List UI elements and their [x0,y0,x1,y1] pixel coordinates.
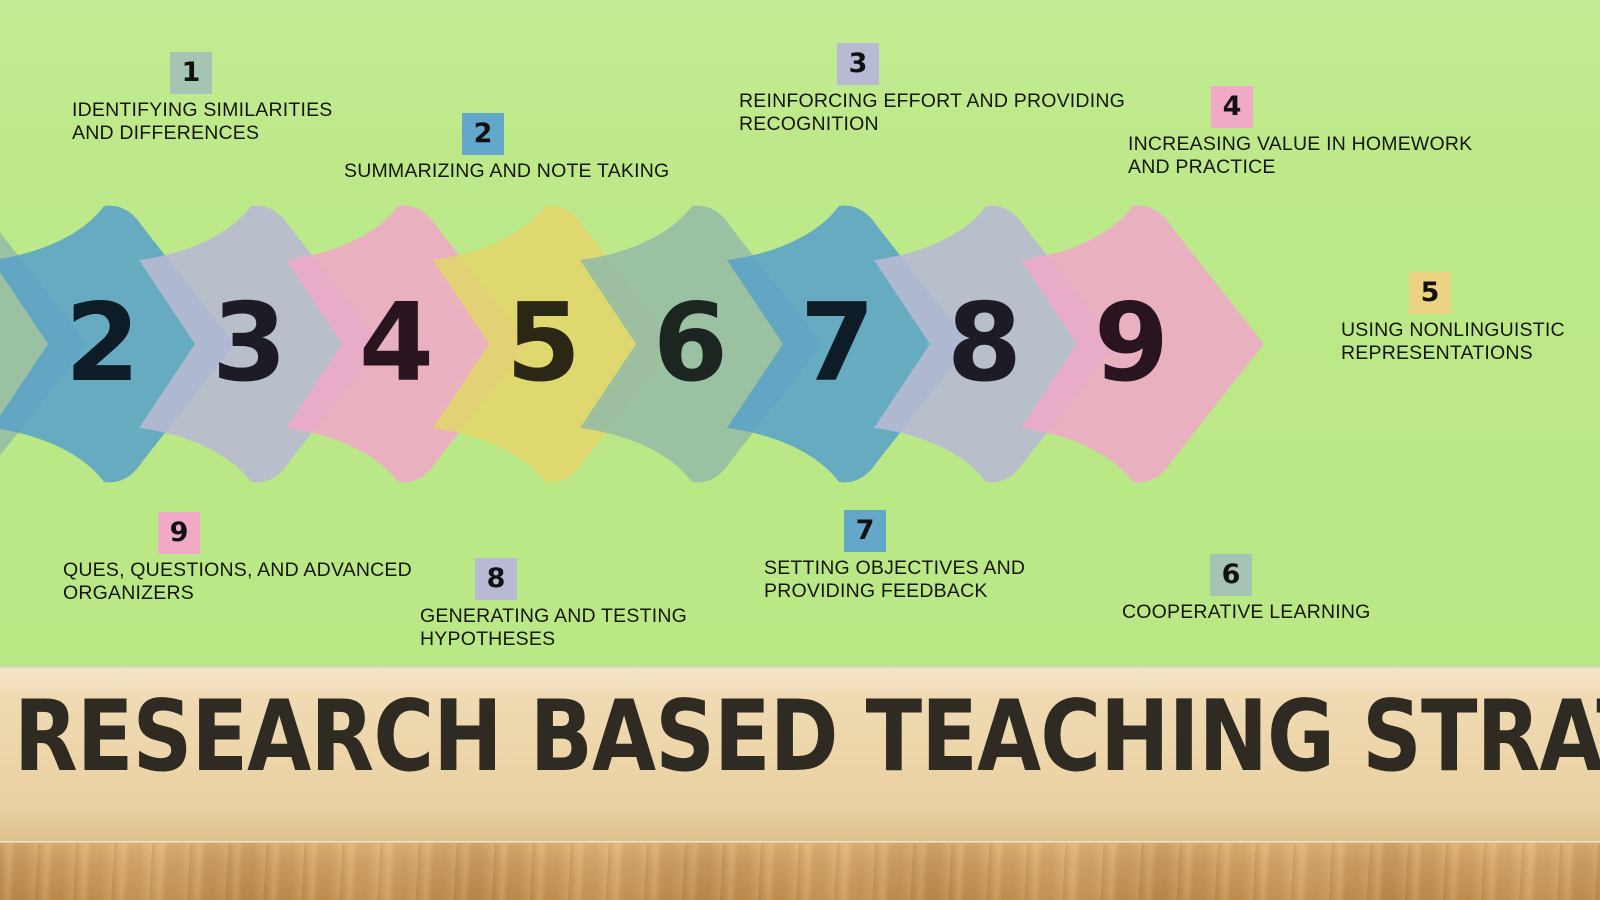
callout-badge-row: 1 [72,52,333,94]
callout-text-5: USING NONLINGUISTIC REPRESENTATIONS [1341,319,1600,365]
callout-badge-row: 6 [1122,554,1371,596]
callout-badge-row: 8 [420,558,687,600]
callout-2[interactable]: 2SUMMARIZING AND NOTE TAKING [344,113,669,183]
callout-number-badge-8: 8 [475,558,517,600]
callout-text-7: SETTING OBJECTIVES AND PROVIDING FEEDBAC… [764,557,1025,603]
callout-text-4: INCREASING VALUE IN HOMEWORK AND PRACTIC… [1128,133,1472,179]
callout-number-badge-6: 6 [1210,554,1252,596]
callout-badge-row: 7 [764,510,1025,552]
shelf-seam [0,665,1600,669]
callout-number-badge-1: 1 [170,52,212,94]
callout-badge-row: 9 [63,512,412,554]
callout-5[interactable]: 5USING NONLINGUISTIC REPRESENTATIONS [1341,272,1600,365]
callout-text-3: REINFORCING EFFORT AND PROVIDING RECOGNI… [739,90,1125,136]
callout-text-2: SUMMARIZING AND NOTE TAKING [344,160,669,183]
callout-badge-row: 2 [344,113,669,155]
callout-number-badge-4: 4 [1211,86,1253,128]
callout-3[interactable]: 3REINFORCING EFFORT AND PROVIDING RECOGN… [739,43,1125,136]
callout-text-6: COOPERATIVE LEARNING [1122,601,1371,624]
callout-text-8: GENERATING AND TESTING HYPOTHESES [420,605,687,651]
callout-8[interactable]: 8GENERATING AND TESTING HYPOTHESES [420,558,687,651]
callout-badge-row: 3 [739,43,1125,85]
callout-4[interactable]: 4INCREASING VALUE IN HOMEWORK AND PRACTI… [1128,86,1472,179]
callout-6[interactable]: 6COOPERATIVE LEARNING [1122,554,1371,624]
infographic-poster: 123456789 1IDENTIFYING SIMILARITIES AND … [0,0,1600,900]
callout-text-9: QUES, QUESTIONS, AND ADVANCED ORGANIZERS [63,559,412,605]
callout-badge-row: 5 [1341,272,1600,314]
arrow-shape [1021,206,1263,483]
callout-number-badge-3: 3 [837,43,879,85]
callout-number-badge-2: 2 [462,113,504,155]
callout-number-badge-7: 7 [844,510,886,552]
arrow-step-9[interactable] [1021,198,1326,490]
callout-number-badge-5: 5 [1409,272,1451,314]
callout-badge-row: 4 [1128,86,1472,128]
callout-text-1: IDENTIFYING SIMILARITIES AND DIFFERENCES [72,99,333,145]
page-title: RESEARCH BASED TEACHING STRATEGIES [14,688,1366,786]
callout-7[interactable]: 7SETTING OBJECTIVES AND PROVIDING FEEDBA… [764,510,1025,603]
callout-9[interactable]: 9QUES, QUESTIONS, AND ADVANCED ORGANIZER… [63,512,412,605]
wood-shelf-front [0,843,1600,900]
callout-1[interactable]: 1IDENTIFYING SIMILARITIES AND DIFFERENCE… [72,52,333,145]
callout-number-badge-9: 9 [158,512,200,554]
